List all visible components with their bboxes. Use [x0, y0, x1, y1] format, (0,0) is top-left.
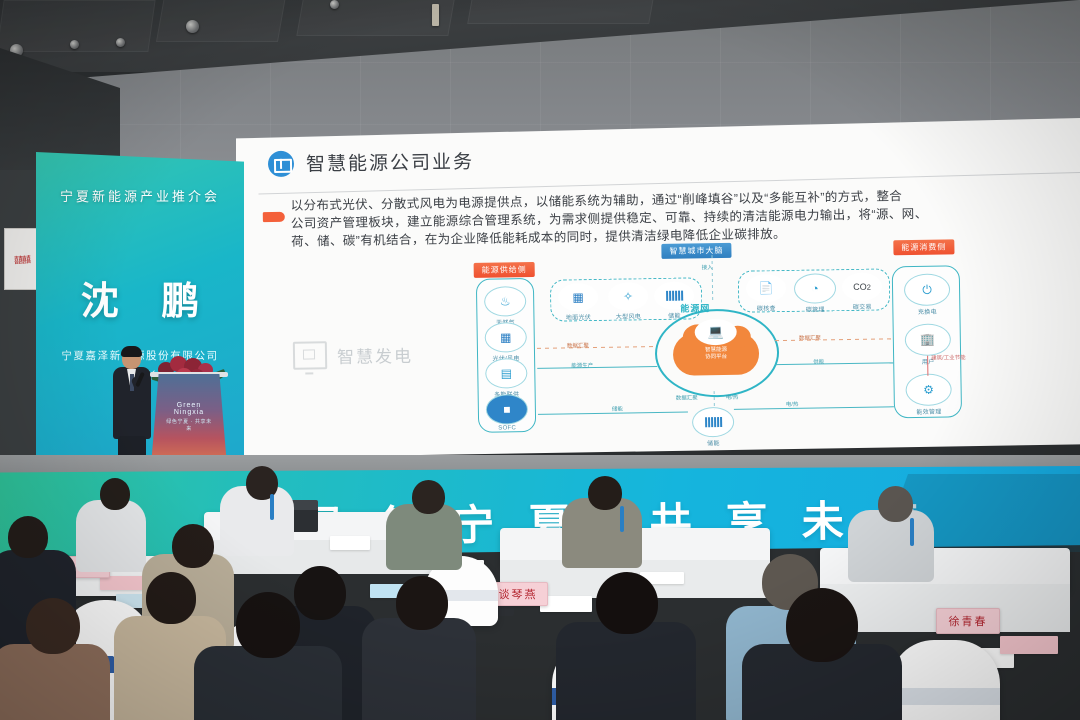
- podium-line1: Green Ningxia: [164, 402, 214, 416]
- flow-label-supply: 供能: [813, 357, 824, 365]
- flow-energy-left: [537, 366, 657, 369]
- name-card-label: 谈琴燕: [499, 586, 538, 602]
- slide-watermark: 智慧发电: [293, 340, 413, 370]
- generation-node: ✧ 大型风电: [608, 282, 649, 321]
- supply-node: ■ SOFC: [486, 394, 529, 432]
- supply-node: ▦ 光伏/风电: [485, 322, 528, 363]
- platform-label: 智慧能源 协同平台: [705, 347, 727, 361]
- flow-label-heat: 电/热: [726, 393, 739, 401]
- carbon-node: 📄 碳核查: [746, 274, 787, 313]
- chair: [890, 640, 1000, 720]
- podium-line2: 绿色宁夏 · 共享未来: [164, 418, 214, 432]
- ceiling-spotlight: [186, 20, 199, 33]
- flow-label-gather: 数据汇聚: [676, 393, 698, 401]
- speaker-name: 沈 鹏: [36, 270, 244, 325]
- paper: [100, 576, 146, 590]
- consume-node: ⚙ 能效管理: [905, 373, 952, 416]
- badge-consume-side: 能源消费侧: [893, 239, 954, 255]
- supply-node: ♨ 天然气: [484, 286, 527, 327]
- slide-header: 智慧能源公司业务: [268, 147, 474, 177]
- flow-label-access: 接入: [702, 263, 713, 271]
- carbon-node: ◔ 碳管理: [794, 273, 837, 314]
- ceiling-spotlight: [70, 40, 79, 49]
- ceiling-spotlight: [116, 38, 125, 47]
- flow-data-left: [537, 346, 657, 349]
- generation-node: ▦ 地面光伏: [558, 283, 599, 322]
- ceiling-hanger: [432, 4, 439, 26]
- slide-title: 智慧能源公司业务: [306, 147, 474, 177]
- consume-node: ⏻ 充换电: [904, 273, 951, 316]
- center-storage-node: 储能: [692, 407, 735, 448]
- name-card: 徐青春: [936, 608, 1000, 634]
- flow-supply-right: [775, 362, 893, 365]
- projection-screen: 嘉泽 JIAZE REN 智慧能源公司业务 以分布式光伏、分散式风电为电源提供点…: [236, 118, 1080, 458]
- flow-label-storage: 储能: [612, 405, 623, 413]
- name-card-label: 徐青春: [949, 613, 988, 629]
- badge-city-brain: 智慧城市大脑: [661, 243, 731, 259]
- conference-photo: 囍囍 嘉泽 JIAZE REN 智慧能源公司业务 以分布式光伏、分散式风电为电源…: [0, 0, 1080, 720]
- paper: [330, 536, 370, 550]
- flow-brain-link: [711, 255, 713, 301]
- flow-label-data-right: 数据汇聚: [799, 333, 821, 341]
- flow-data-right: [775, 338, 893, 341]
- arrow-bullet-icon: [263, 212, 285, 222]
- flow-label-electric: 电/热: [786, 400, 799, 408]
- flow-label-saving: 建筑/工业节能: [931, 353, 966, 362]
- energy-network-label: 能源网: [680, 301, 710, 314]
- paper: [1000, 636, 1058, 654]
- badge-supply-side: 能源供给侧: [474, 262, 535, 278]
- supply-node: ▤ 多能联供: [485, 358, 528, 399]
- flow-storage-right: [734, 406, 894, 410]
- monitor-icon: [293, 341, 327, 370]
- ceiling-spotlight: [330, 0, 339, 9]
- flow-label-production: 能源生产: [571, 361, 593, 369]
- watermark-label: 智慧发电: [337, 341, 413, 367]
- carbon-node: CO2 碳交易: [842, 272, 883, 311]
- event-title: 宁夏新能源产业推介会: [36, 186, 244, 205]
- energy-system-diagram: 能源供给侧 智慧城市大脑 能源消费侧 ♨ 天然气 ▦ 光伏/风电 ▤ 多能联供: [461, 236, 1044, 445]
- wall-sign: 囍囍: [4, 228, 40, 290]
- presentation-icon: [268, 150, 294, 176]
- flow-label-data: 数据汇聚: [567, 341, 589, 349]
